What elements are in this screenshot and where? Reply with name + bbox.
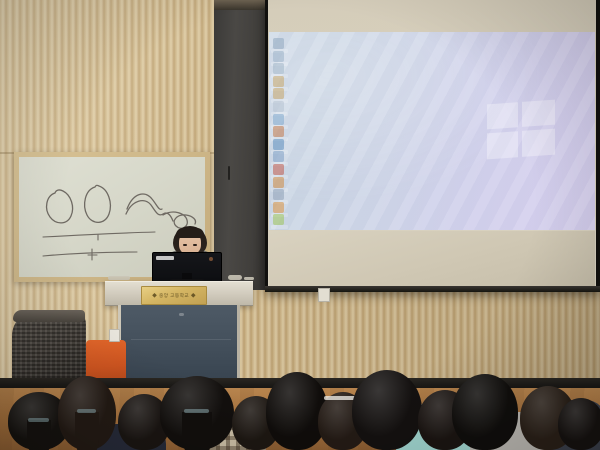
office-icon[interactable] [273,177,284,188]
podium-nameplate: ◆ 중앙 고등학교 ◆ [141,286,207,305]
desktop-icon-column[interactable] [271,34,289,226]
podium-nameplate-text: ◆ 중앙 고등학교 ◆ [152,292,196,299]
installer-icon[interactable] [273,214,284,225]
audience-ponytail [27,420,52,450]
wall-outlet [109,329,120,342]
presenter-fringe [176,228,204,238]
lectern-body [118,305,240,381]
network-icon[interactable] [273,63,284,74]
document-icon[interactable] [273,101,284,112]
lectern-button [179,313,184,316]
recessed-dark-column [214,0,270,290]
lectern-panel-line [131,339,231,340]
folder-icon[interactable] [273,76,284,87]
desk-paper [108,276,130,280]
lectern-top: ◆ 중앙 고등학교 ◆ [105,281,253,306]
audience-ponytail [75,412,98,450]
windows-logo-watermark [487,100,555,161]
monitor-indicator [209,257,213,261]
app-icon[interactable] [273,151,284,162]
audience-ponytail [182,412,212,450]
audience-head [452,374,518,450]
pdf-icon[interactable] [273,164,284,175]
hair-tie [77,409,97,413]
browser-icon[interactable] [273,114,284,125]
audience-head [558,398,600,450]
chrome-icon[interactable] [273,202,284,213]
hair-tie [184,409,209,413]
column-top-trim [214,0,268,10]
projected-windows-desktop [269,32,595,230]
media-icon[interactable] [273,126,284,137]
app-icon[interactable] [273,139,284,150]
desktop-icon-label [271,225,288,229]
desk-mouse [228,275,242,280]
projector-screen [265,0,600,292]
recycle-bin-icon[interactable] [273,38,284,49]
folder-icon[interactable] [273,88,284,99]
desk-item-small [244,277,254,280]
audience-head [352,370,422,450]
screen-bottom-bar [265,286,600,292]
presenter-eye-right [193,244,197,246]
lecture-hall-photo: ◆ 중앙 고등학교 ◆ [0,0,600,450]
wicker-chair-rim [13,310,85,322]
wall-panel-box [318,288,330,302]
screen-lower-fabric [269,231,595,288]
shield-icon[interactable] [273,189,284,200]
presenter-eye-left [183,244,187,246]
hair-tie [28,418,49,422]
monitor-label-strip [156,256,174,260]
column-latch [228,166,230,180]
this-pc-icon[interactable] [273,51,284,62]
